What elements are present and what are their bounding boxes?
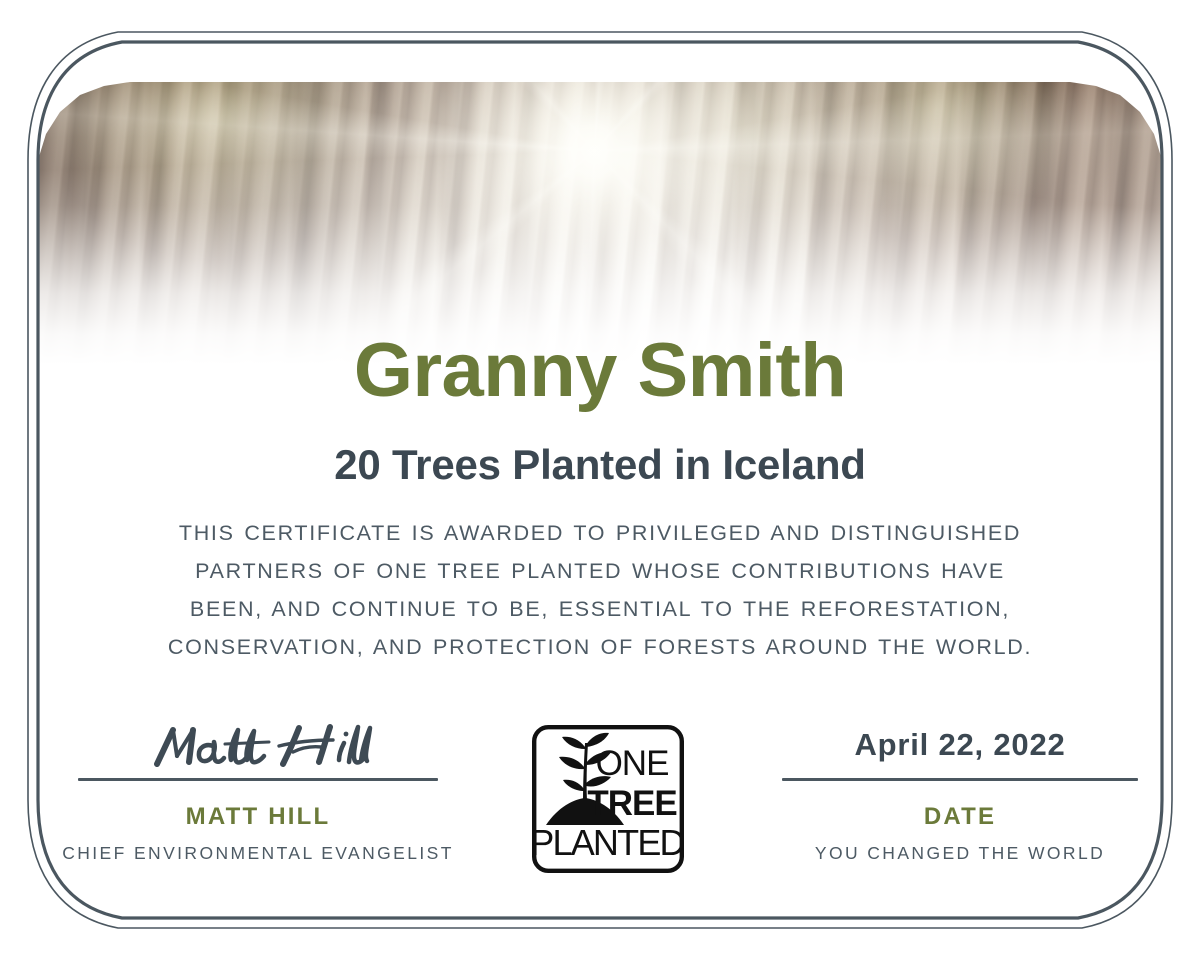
signature-block: MATT HILL CHIEF ENVIRONMENTAL EVANGELIST (48, 716, 468, 864)
signature-rule (78, 778, 438, 781)
body-line: BEEN, AND CONTINUE TO BE, ESSENTIAL TO T… (110, 590, 1090, 628)
one-tree-planted-logo-icon: ONE TREE PLANTED (532, 725, 684, 873)
certificate-document: Granny Smith 20 Trees Planted in Iceland… (0, 0, 1200, 960)
date-rule (782, 778, 1138, 781)
logo-line-planted: PLANTED (532, 822, 684, 863)
signer-name: MATT HILL (48, 803, 468, 831)
certificate-body-text: THIS CERTIFICATE IS AWARDED TO PRIVILEGE… (110, 514, 1090, 666)
date-value: April 22, 2022 (760, 716, 1160, 774)
signer-title: CHIEF ENVIRONMENTAL EVANGELIST (48, 843, 468, 864)
date-block: April 22, 2022 DATE YOU CHANGED THE WORL… (760, 716, 1160, 864)
date-label: DATE (760, 803, 1160, 831)
date-caption: YOU CHANGED THE WORLD (760, 843, 1160, 864)
recipient-name: Granny Smith (0, 333, 1200, 409)
body-line: PARTNERS OF ONE TREE PLANTED WHOSE CONTR… (110, 552, 1090, 590)
logo-line-tree: TREE (587, 784, 676, 823)
logo-line-one: ONE (596, 744, 669, 783)
body-line: THIS CERTIFICATE IS AWARDED TO PRIVILEGE… (110, 514, 1090, 552)
handwritten-signature (48, 716, 468, 774)
one-tree-planted-logo: ONE TREE PLANTED (532, 725, 684, 873)
signature-script-icon (143, 718, 373, 774)
body-line: CONSERVATION, AND PROTECTION OF FORESTS … (110, 628, 1090, 666)
award-line: 20 Trees Planted in Iceland (0, 444, 1200, 486)
